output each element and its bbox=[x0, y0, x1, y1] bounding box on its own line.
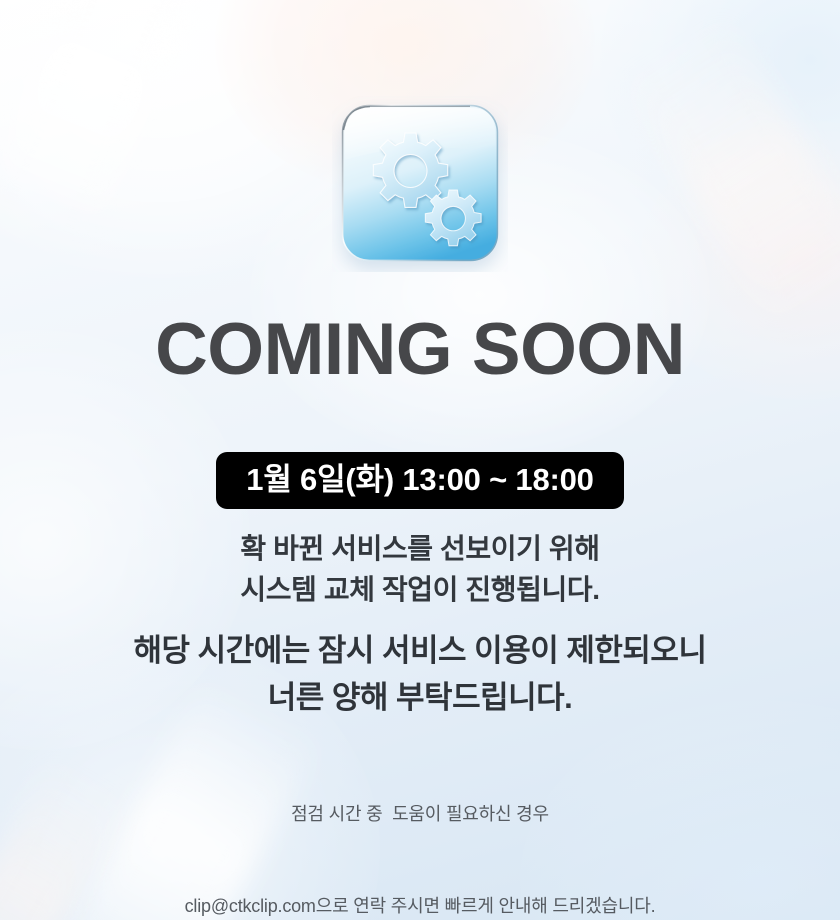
maintenance-schedule-badge: 1월 6일(화) 13:00 ~ 18:00 bbox=[216, 452, 623, 509]
maintenance-reason-text: 확 바뀐 서비스를 선보이기 위해 시스템 교체 작업이 진행됩니다. bbox=[0, 528, 840, 611]
maintenance-schedule-badge-row: 1월 6일(화) 13:00 ~ 18:00 bbox=[0, 452, 840, 509]
maintenance-reason-line-1: 확 바뀐 서비스를 선보이기 위해 bbox=[0, 528, 840, 569]
service-restriction-line-2: 너른 양해 부탁드립니다. bbox=[0, 675, 840, 722]
gears-maintenance-tile-icon bbox=[332, 96, 508, 272]
support-contact-note: 점검 시간 중 도움이 필요하신 경우 clip@ctkclip.com으로 연… bbox=[0, 738, 840, 920]
support-contact-line-1: 점검 시간 중 도움이 필요하신 경우 bbox=[0, 799, 840, 830]
service-restriction-text: 해당 시간에는 잠시 서비스 이용이 제한되오니 너른 양해 부탁드립니다. bbox=[0, 628, 840, 721]
support-contact-line-2: clip@ctkclip.com으로 연락 주시면 빠르게 안내해 드리겠습니다… bbox=[0, 891, 840, 920]
service-restriction-line-1: 해당 시간에는 잠시 서비스 이용이 제한되오니 bbox=[0, 628, 840, 675]
maintenance-reason-line-2: 시스템 교체 작업이 진행됩니다. bbox=[0, 569, 840, 610]
page-title: COMING SOON bbox=[0, 313, 840, 386]
maintenance-notice-page: COMING SOON 1월 6일(화) 13:00 ~ 18:00 확 바뀐 … bbox=[0, 0, 840, 920]
maintenance-icon-container bbox=[0, 96, 840, 272]
